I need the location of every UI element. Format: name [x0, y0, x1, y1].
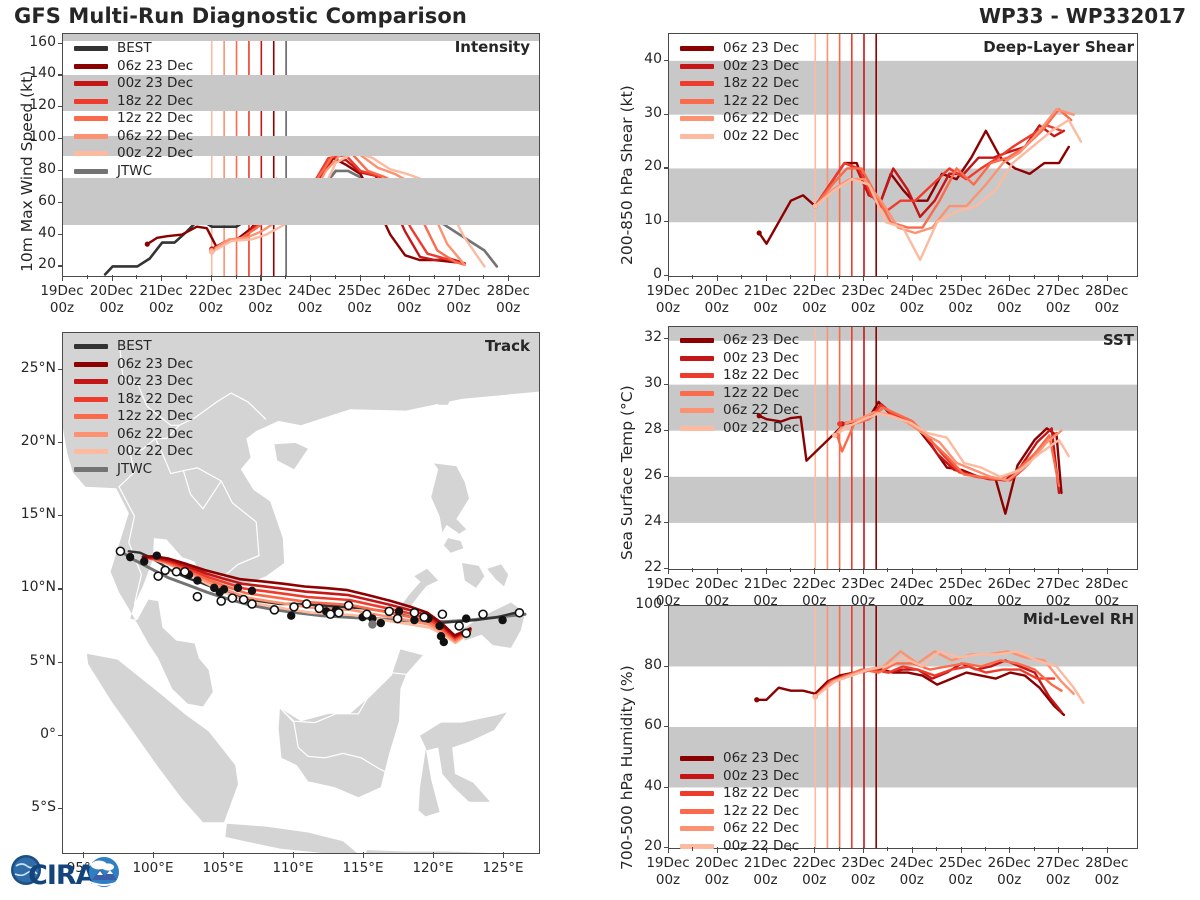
shear-panel-label: Deep-Layer Shear [983, 38, 1134, 56]
legend-swatch [74, 134, 108, 139]
x-tick-mark [766, 275, 767, 281]
lon-tick-label: 105°E [189, 860, 257, 876]
legend-label: 00z 23 Dec [117, 77, 193, 91]
x-tick-mark [668, 847, 669, 853]
lon-tick-label: 125°E [469, 860, 537, 876]
legend-label: 06z 22 Dec [723, 404, 799, 418]
lon-tick-mark [293, 852, 294, 858]
legend-item[interactable]: 12z 22 Dec [680, 803, 799, 821]
legend-label: 06z 23 Dec [723, 42, 799, 56]
legend-label: 18z 22 Dec [117, 95, 193, 109]
x-minor-tick [692, 275, 693, 279]
legend-item[interactable]: 06z 23 Dec [74, 356, 193, 374]
legend-swatch [680, 99, 714, 104]
x-tick-label: 28Dec [1075, 283, 1139, 299]
legend-label: 00z 22 Dec [117, 147, 193, 161]
lat-tick-mark [58, 735, 63, 736]
intensity-legend: BEST06z 23 Dec00z 23 Dec18z 22 Dec12z 22… [74, 40, 193, 180]
x-tick-mark [814, 568, 815, 574]
lon-tick-mark [433, 852, 434, 858]
legend-label: 00z 23 Dec [723, 60, 799, 74]
x-minor-tick [790, 568, 791, 572]
x-minor-tick [1034, 275, 1035, 279]
track-legend: BEST06z 23 Dec00z 23 Dec18z 22 Dec12z 22… [74, 338, 193, 478]
legend-swatch [74, 344, 108, 349]
x-tick-mark [961, 568, 962, 574]
legend-item[interactable]: 18z 22 Dec [74, 391, 193, 409]
cira-logo: CIRA [6, 844, 126, 892]
legend-swatch [680, 391, 714, 396]
y-tick-label: 20 [620, 158, 662, 174]
legend-label: 00z 23 Dec [723, 352, 799, 366]
legend-swatch [74, 64, 108, 69]
legend-swatch [680, 774, 714, 779]
x-tick-mark [1107, 847, 1108, 853]
legend-item[interactable]: 00z 22 Dec [74, 145, 193, 163]
y-tick-mark [58, 106, 63, 107]
legend-item[interactable]: JTWC [74, 163, 193, 181]
x-minor-tick [741, 568, 742, 572]
legend-swatch [680, 46, 714, 51]
x-tick-mark [863, 847, 864, 853]
x-tick-label: 28Dec [1075, 576, 1139, 592]
legend-item[interactable]: 00z 22 Dec [680, 420, 799, 438]
x-tick-mark [912, 568, 913, 574]
lat-tick-mark [58, 515, 63, 516]
legend-swatch [680, 809, 714, 814]
x-minor-tick [186, 275, 187, 279]
legend-swatch [680, 64, 714, 69]
legend-swatch [74, 362, 108, 367]
y-tick-label: 40 [620, 778, 662, 794]
legend-label: 06z 22 Dec [117, 130, 193, 144]
legend-swatch [680, 756, 714, 761]
y-tick-label: 32 [620, 329, 662, 345]
y-tick-mark [664, 338, 669, 339]
y-tick-mark [664, 221, 669, 222]
lat-tick-label: 20°N [6, 433, 56, 449]
y-tick-label: 20 [620, 838, 662, 854]
x-minor-tick [384, 275, 385, 279]
legend-label: 06z 22 Dec [723, 822, 799, 836]
legend-item[interactable]: 06z 23 Dec [74, 58, 193, 76]
x-tick-mark [668, 568, 669, 574]
x-tick-sublabel: 00z [476, 300, 540, 316]
legend-swatch [74, 414, 108, 419]
x-minor-tick [839, 847, 840, 851]
legend-label: 00z 22 Dec [723, 130, 799, 144]
legend-item[interactable]: 06z 23 Dec [680, 40, 799, 58]
y-tick-label: 140 [14, 65, 56, 81]
legend-swatch [74, 151, 108, 156]
legend-swatch [74, 432, 108, 437]
legend-swatch [680, 844, 714, 849]
legend-item[interactable]: 00z 23 Dec [680, 768, 799, 786]
y-tick-mark [664, 167, 669, 168]
y-tick-mark [664, 726, 669, 727]
x-tick-mark [766, 568, 767, 574]
lon-tick-mark [153, 852, 154, 858]
lon-tick-mark [223, 852, 224, 858]
y-tick-label: 10 [620, 212, 662, 228]
x-tick-mark [668, 275, 669, 281]
lat-tick-label: 5°N [6, 653, 56, 669]
x-tick-mark [161, 275, 162, 281]
y-tick-mark [58, 234, 63, 235]
legend-label: 12z 22 Dec [117, 410, 193, 424]
legend-swatch [680, 81, 714, 86]
rh-panel-label: Mid-Level RH [1023, 610, 1134, 628]
lat-tick-label: 5°S [6, 799, 56, 815]
y-tick-label: 20 [14, 256, 56, 272]
legend-label: 18z 22 Dec [723, 787, 799, 801]
y-tick-label: 30 [620, 105, 662, 121]
legend-label: 18z 22 Dec [723, 369, 799, 383]
x-minor-tick [1034, 568, 1035, 572]
lon-tick-label: 100°E [119, 860, 187, 876]
legend-swatch [680, 338, 714, 343]
intensity-panel-label: Intensity [455, 38, 530, 56]
y-tick-label: 60 [620, 717, 662, 733]
y-tick-label: 120 [14, 97, 56, 113]
y-tick-mark [664, 430, 669, 431]
legend-label: 06z 23 Dec [117, 60, 193, 74]
y-tick-mark [664, 522, 669, 523]
legend-swatch [680, 791, 714, 796]
legend-item[interactable]: 18z 22 Dec [74, 93, 193, 111]
legend-label: 18z 22 Dec [117, 393, 193, 407]
x-minor-tick [887, 275, 888, 279]
legend-item[interactable]: 06z 22 Dec [74, 426, 193, 444]
legend-label: 06z 22 Dec [723, 112, 799, 126]
x-tick-mark [1107, 275, 1108, 281]
legend-item[interactable]: BEST [74, 338, 193, 356]
x-minor-tick [936, 568, 937, 572]
legend-item[interactable]: 12z 22 Dec [680, 93, 799, 111]
lon-tick-label: 120°E [399, 860, 467, 876]
lon-tick-mark [503, 852, 504, 858]
x-minor-tick [434, 275, 435, 279]
legend-label: BEST [117, 42, 152, 56]
legend-swatch [74, 169, 108, 174]
sst-panel: Sea Surface Temp (°C) 06z 23 Dec00z 23 D… [600, 300, 1200, 600]
lat-tick-label: 25°N [6, 360, 56, 376]
legend-label: 00z 23 Dec [723, 770, 799, 784]
y-tick-mark [664, 60, 669, 61]
legend-swatch [680, 426, 714, 431]
rh-legend: 06z 23 Dec00z 23 Dec18z 22 Dec12z 22 Dec… [680, 750, 799, 855]
legend-item[interactable]: 12z 22 Dec [74, 408, 193, 426]
y-tick-label: 40 [620, 51, 662, 67]
y-tick-mark [58, 265, 63, 266]
y-tick-mark [58, 170, 63, 171]
x-minor-tick [985, 847, 986, 851]
x-tick-mark [1009, 275, 1010, 281]
x-tick-mark [717, 275, 718, 281]
legend-label: 00z 22 Dec [723, 422, 799, 436]
legend-item[interactable]: 12z 22 Dec [74, 110, 193, 128]
x-tick-mark [360, 275, 361, 281]
x-tick-mark [112, 275, 113, 281]
x-minor-tick [1082, 847, 1083, 851]
legend-swatch [74, 449, 108, 454]
legend-swatch [680, 356, 714, 361]
y-tick-label: 160 [14, 34, 56, 50]
x-minor-tick [136, 275, 137, 279]
x-tick-label: 28Dec [1075, 855, 1139, 871]
x-minor-tick [87, 275, 88, 279]
legend-item[interactable]: BEST [74, 40, 193, 58]
legend-swatch [74, 467, 108, 472]
legend-swatch [680, 373, 714, 378]
shear-panel: 200-850 hPa Shear (kt) 06z 23 Dec00z 23 … [600, 0, 1200, 300]
legend-label: 12z 22 Dec [723, 805, 799, 819]
legend-label: 18z 22 Dec [723, 77, 799, 91]
legend-swatch [74, 46, 108, 51]
x-tick-label: 28Dec [476, 283, 540, 299]
legend-label: BEST [117, 340, 152, 354]
x-tick-mark [912, 275, 913, 281]
legend-swatch [74, 397, 108, 402]
y-tick-mark [664, 605, 669, 606]
x-minor-tick [790, 847, 791, 851]
x-minor-tick [936, 847, 937, 851]
legend-item[interactable]: 00z 22 Dec [680, 128, 799, 146]
legend-label: 06z 22 Dec [117, 428, 193, 442]
legend-label: 12z 22 Dec [117, 112, 193, 126]
x-tick-mark [814, 275, 815, 281]
x-tick-mark [409, 275, 410, 281]
lat-tick-mark [58, 808, 63, 809]
lat-tick-mark [58, 369, 63, 370]
x-tick-mark [1009, 568, 1010, 574]
rh-panel: 700-500 hPa Humidity (%) 06z 23 Dec00z 2… [600, 600, 1200, 900]
legend-label: 06z 23 Dec [723, 752, 799, 766]
legend-label: 12z 22 Dec [723, 387, 799, 401]
x-minor-tick [887, 847, 888, 851]
x-tick-mark [459, 275, 460, 281]
y-tick-mark [58, 202, 63, 203]
y-tick-mark [664, 384, 669, 385]
shear-legend: 06z 23 Dec00z 23 Dec18z 22 Dec12z 22 Dec… [680, 40, 799, 145]
x-minor-tick [1082, 275, 1083, 279]
legend-item[interactable]: 06z 22 Dec [680, 820, 799, 838]
legend-item[interactable]: 00z 22 Dec [74, 443, 193, 461]
x-tick-mark [961, 847, 962, 853]
y-tick-mark [664, 476, 669, 477]
y-tick-mark [58, 74, 63, 75]
lat-tick-label: 10°N [6, 579, 56, 595]
legend-item[interactable]: 06z 22 Dec [680, 402, 799, 420]
x-minor-tick [236, 275, 237, 279]
x-minor-tick [692, 847, 693, 851]
x-tick-mark [961, 275, 962, 281]
lon-tick-mark [363, 852, 364, 858]
lat-tick-label: 15°N [6, 506, 56, 522]
x-tick-mark [62, 275, 63, 281]
legend-label: 00z 22 Dec [117, 445, 193, 459]
legend-item[interactable]: 18z 22 Dec [680, 785, 799, 803]
legend-swatch [680, 134, 714, 139]
legend-label: JTWC [117, 463, 152, 477]
legend-item[interactable]: 06z 22 Dec [74, 128, 193, 146]
legend-label: 06z 23 Dec [723, 334, 799, 348]
y-tick-mark [664, 666, 669, 667]
y-tick-label: 100 [620, 596, 662, 612]
legend-item[interactable]: 06z 23 Dec [680, 750, 799, 768]
legend-item[interactable]: 00z 22 Dec [680, 838, 799, 856]
x-minor-tick [839, 275, 840, 279]
legend-item[interactable]: 18z 22 Dec [680, 367, 799, 385]
legend-label: 12z 22 Dec [723, 95, 799, 109]
x-minor-tick [285, 275, 286, 279]
x-tick-mark [912, 847, 913, 853]
x-tick-mark [814, 847, 815, 853]
sst-panel-label: SST [1103, 331, 1134, 349]
x-minor-tick [985, 275, 986, 279]
x-tick-mark [310, 275, 311, 281]
y-tick-label: 100 [14, 129, 56, 145]
x-tick-mark [863, 275, 864, 281]
x-minor-tick [741, 275, 742, 279]
x-tick-mark [766, 847, 767, 853]
y-tick-mark [664, 114, 669, 115]
x-tick-mark [1058, 847, 1059, 853]
legend-swatch [680, 116, 714, 121]
x-minor-tick [335, 275, 336, 279]
svg-text:CIRA: CIRA [28, 860, 97, 891]
x-minor-tick [741, 847, 742, 851]
legend-swatch [74, 116, 108, 121]
x-tick-sublabel: 00z [1075, 872, 1139, 888]
lon-tick-label: 115°E [329, 860, 397, 876]
legend-item[interactable]: JTWC [74, 461, 193, 479]
y-tick-mark [58, 43, 63, 44]
legend-swatch [74, 99, 108, 104]
y-tick-label: 80 [14, 161, 56, 177]
x-minor-tick [936, 275, 937, 279]
x-tick-mark [508, 275, 509, 281]
lon-tick-label: 110°E [259, 860, 327, 876]
x-minor-tick [692, 568, 693, 572]
sst-legend: 06z 23 Dec00z 23 Dec18z 22 Dec12z 22 Dec… [680, 332, 799, 437]
x-minor-tick [790, 275, 791, 279]
x-tick-mark [260, 275, 261, 281]
y-tick-mark [58, 138, 63, 139]
legend-item[interactable]: 18z 22 Dec [680, 75, 799, 93]
x-tick-mark [717, 847, 718, 853]
lat-tick-mark [58, 662, 63, 663]
x-minor-tick [483, 275, 484, 279]
legend-swatch [74, 81, 108, 86]
legend-swatch [680, 408, 714, 413]
y-tick-label: 80 [620, 657, 662, 673]
x-tick-mark [1009, 847, 1010, 853]
legend-swatch [74, 379, 108, 384]
legend-item[interactable]: 12z 22 Dec [680, 385, 799, 403]
legend-label: 06z 23 Dec [117, 358, 193, 372]
y-tick-label: 60 [14, 193, 56, 209]
y-tick-mark [664, 787, 669, 788]
x-minor-tick [1082, 568, 1083, 572]
legend-item[interactable]: 00z 23 Dec [74, 373, 193, 391]
y-tick-label: 0 [620, 266, 662, 282]
cat-band [63, 178, 539, 225]
y-tick-label: 30 [620, 375, 662, 391]
legend-item[interactable]: 00z 23 Dec [680, 58, 799, 76]
x-tick-mark [863, 568, 864, 574]
legend-label: JTWC [117, 165, 152, 179]
legend-item[interactable]: 06z 23 Dec [680, 332, 799, 350]
x-tick-mark [1058, 275, 1059, 281]
x-minor-tick [839, 568, 840, 572]
lat-tick-mark [58, 588, 63, 589]
lat-tick-label: 0° [6, 726, 56, 742]
cira-logo-mark: CIRA [6, 844, 126, 892]
y-tick-label: 28 [620, 421, 662, 437]
x-minor-tick [985, 568, 986, 572]
intensity-panel: 10m Max Wind Speed (kt) BEST06z 23 Dec00… [0, 0, 600, 320]
legend-item[interactable]: 06z 22 Dec [680, 110, 799, 128]
track-panel-label: Track [485, 337, 530, 355]
x-minor-tick [1034, 847, 1035, 851]
y-tick-label: 24 [620, 513, 662, 529]
y-tick-label: 40 [14, 225, 56, 241]
x-tick-mark [717, 568, 718, 574]
legend-label: 00z 23 Dec [117, 375, 193, 389]
legend-label: 00z 22 Dec [723, 840, 799, 854]
x-minor-tick [887, 568, 888, 572]
legend-item[interactable]: 00z 23 Dec [74, 75, 193, 93]
x-tick-mark [1107, 568, 1108, 574]
y-tick-label: 26 [620, 467, 662, 483]
x-tick-mark [1058, 568, 1059, 574]
y-tick-label: 22 [620, 559, 662, 575]
x-tick-mark [211, 275, 212, 281]
track-panel: BEST06z 23 Dec00z 23 Dec18z 22 Dec12z 22… [0, 320, 600, 900]
lat-tick-mark [58, 442, 63, 443]
legend-swatch [680, 826, 714, 831]
legend-item[interactable]: 00z 23 Dec [680, 350, 799, 368]
